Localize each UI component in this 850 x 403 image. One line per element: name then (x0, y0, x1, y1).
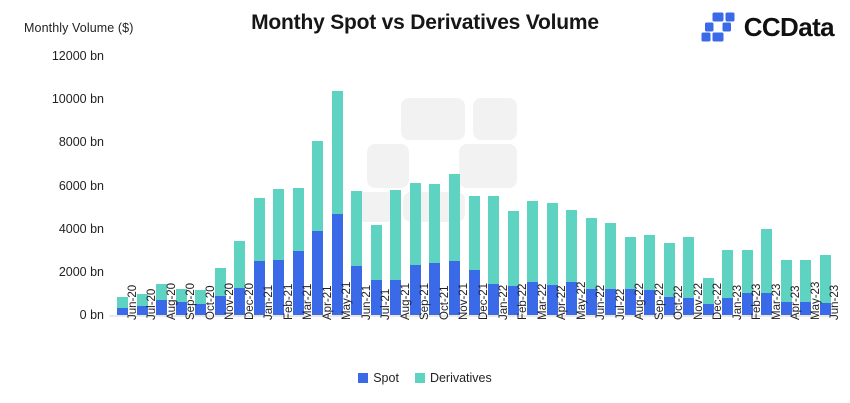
bar-group[interactable] (215, 56, 226, 315)
bar-group[interactable] (351, 56, 362, 315)
bar-group[interactable] (234, 56, 245, 315)
y-axis-tick-label: 0 bn (80, 308, 104, 322)
x-axis-tick-label: Mar-23 (771, 284, 783, 320)
bar-segment-derivatives[interactable] (254, 198, 265, 261)
x-axis-tick-label: Nov-21 (458, 283, 470, 320)
bar-group[interactable] (527, 56, 538, 315)
bar-group[interactable] (781, 56, 792, 315)
bar-group[interactable] (683, 56, 694, 315)
x-axis-tick-label: Aug-20 (166, 283, 178, 320)
bar-group[interactable] (390, 56, 401, 315)
x-axis-tick-label: Jul-22 (615, 289, 627, 320)
x-axis-tick-label: Jul-21 (380, 289, 392, 320)
x-axis-tick-label: Aug-21 (400, 283, 412, 320)
x-axis-tick-label: Mar-22 (537, 284, 549, 320)
bar-group[interactable] (312, 56, 323, 315)
legend-label: Derivatives (430, 371, 492, 385)
x-axis-tick-label: Oct-20 (205, 285, 217, 320)
x-axis-tick-label: Jul-20 (146, 289, 158, 320)
bar-segment-derivatives[interactable] (566, 210, 577, 281)
bar-group[interactable] (156, 56, 167, 315)
y-axis-tick-label: 6000 bn (59, 179, 104, 193)
bar-segment-derivatives[interactable] (371, 225, 382, 280)
x-axis-tick-label: Feb-23 (751, 284, 763, 320)
bar-group[interactable] (488, 56, 499, 315)
chart-container: Monthly Volume ($) Monthy Spot vs Deriva… (0, 0, 850, 403)
bar-segment-derivatives[interactable] (488, 196, 499, 283)
bar-group[interactable] (332, 56, 343, 315)
bar-group[interactable] (137, 56, 148, 315)
legend-swatch (358, 373, 368, 383)
x-axis-tick-label: Aug-22 (634, 283, 646, 320)
bar-segment-derivatives[interactable] (351, 191, 362, 267)
bar-segment-derivatives[interactable] (449, 174, 460, 261)
x-axis-tick-label: Sep-20 (185, 283, 197, 320)
bar-segment-derivatives[interactable] (429, 184, 440, 263)
y-axis-tick-label: 12000 bn (52, 49, 104, 63)
legend-label: Spot (373, 371, 399, 385)
y-axis-tick-label: 8000 bn (59, 135, 104, 149)
x-axis-tick-label: Jan-22 (498, 285, 510, 320)
x-axis-tick-label: Nov-20 (224, 283, 236, 320)
bar-group[interactable] (273, 56, 284, 315)
bar-group[interactable] (722, 56, 733, 315)
bar-group[interactable] (469, 56, 480, 315)
bar-group[interactable] (605, 56, 616, 315)
bar-segment-derivatives[interactable] (586, 218, 597, 289)
bar-group[interactable] (117, 56, 128, 315)
bar-group[interactable] (761, 56, 772, 315)
x-axis-tick-label: Feb-22 (517, 284, 529, 320)
bar-segment-derivatives[interactable] (293, 188, 304, 252)
ccdata-logo-mark-icon (701, 12, 735, 42)
bar-group[interactable] (410, 56, 421, 315)
bar-group[interactable] (625, 56, 636, 315)
bar-segment-derivatives[interactable] (273, 189, 284, 260)
bar-series (113, 56, 835, 315)
y-axis-tick-label: 10000 bn (52, 92, 104, 106)
x-axis-tick-label: May-22 (576, 282, 588, 320)
x-axis-labels: Jun-20Jul-20Aug-20Sep-20Oct-20Nov-20Dec-… (113, 318, 835, 378)
x-axis-tick-label: Mar-21 (302, 284, 314, 320)
axis-baseline (109, 315, 835, 317)
bar-segment-derivatives[interactable] (508, 211, 519, 285)
bar-group[interactable] (429, 56, 440, 315)
bar-segment-derivatives[interactable] (390, 190, 401, 281)
x-axis-tick-label: Jun-22 (595, 285, 607, 320)
y-axis-tick-label: 2000 bn (59, 265, 104, 279)
y-axis-labels: 0 bn2000 bn4000 bn6000 bn8000 bn10000 bn… (0, 56, 113, 315)
x-axis-tick-label: Sep-21 (419, 283, 431, 320)
bar-segment-derivatives[interactable] (469, 196, 480, 269)
bar-group[interactable] (566, 56, 577, 315)
bar-group[interactable] (508, 56, 519, 315)
x-axis-tick-label: Dec-21 (478, 283, 490, 320)
bar-segment-derivatives[interactable] (312, 141, 323, 231)
bar-segment-derivatives[interactable] (332, 91, 343, 214)
bar-group[interactable] (703, 56, 714, 315)
bar-group[interactable] (664, 56, 675, 315)
x-axis-tick-label: Oct-21 (439, 285, 451, 320)
x-axis-tick-label: May-21 (341, 282, 353, 320)
bar-segment-derivatives[interactable] (527, 201, 538, 282)
x-axis-tick-label: Oct-22 (673, 285, 685, 320)
bar-group[interactable] (195, 56, 206, 315)
x-axis-tick-label: May-23 (810, 282, 822, 320)
legend: SpotDerivatives (0, 371, 850, 385)
bar-segment-derivatives[interactable] (605, 223, 616, 289)
bar-group[interactable] (820, 56, 831, 315)
bar-segment-derivatives[interactable] (625, 237, 636, 289)
y-axis-tick-label: 4000 bn (59, 222, 104, 236)
bar-group[interactable] (449, 56, 460, 315)
bar-group[interactable] (742, 56, 753, 315)
bar-segment-derivatives[interactable] (234, 241, 245, 288)
brand-name: CCData (744, 14, 834, 40)
bar-group[interactable] (371, 56, 382, 315)
bar-group[interactable] (800, 56, 811, 315)
legend-item[interactable]: Derivatives (415, 371, 492, 385)
legend-item[interactable]: Spot (358, 371, 399, 385)
bar-group[interactable] (254, 56, 265, 315)
x-axis-tick-label: Nov-22 (693, 283, 705, 320)
x-axis-tick-label: Apr-23 (790, 285, 802, 320)
bar-group[interactable] (547, 56, 558, 315)
x-axis-tick-label: Sep-22 (654, 283, 666, 320)
bar-group[interactable] (644, 56, 655, 315)
x-axis-tick-label: Jan-21 (263, 285, 275, 320)
plot-area (113, 56, 835, 315)
x-axis-tick-label: Feb-21 (283, 284, 295, 320)
x-axis-tick-label: Apr-22 (556, 285, 568, 320)
bar-group[interactable] (176, 56, 187, 315)
x-axis-tick-label: Apr-21 (322, 285, 334, 320)
x-axis-tick-label: Jun-20 (127, 285, 139, 320)
brand-logo: CCData (701, 8, 834, 46)
bar-group[interactable] (293, 56, 304, 315)
x-axis-tick-label: Jun-23 (829, 285, 841, 320)
legend-swatch (415, 373, 425, 383)
x-axis-tick-label: Jan-23 (732, 285, 744, 320)
bar-segment-derivatives[interactable] (547, 203, 558, 285)
bar-group[interactable] (586, 56, 597, 315)
bar-segment-derivatives[interactable] (410, 183, 421, 265)
x-axis-tick-label: Jun-21 (361, 285, 373, 320)
x-axis-tick-label: Dec-22 (712, 283, 724, 320)
x-axis-tick-label: Dec-20 (244, 283, 256, 320)
